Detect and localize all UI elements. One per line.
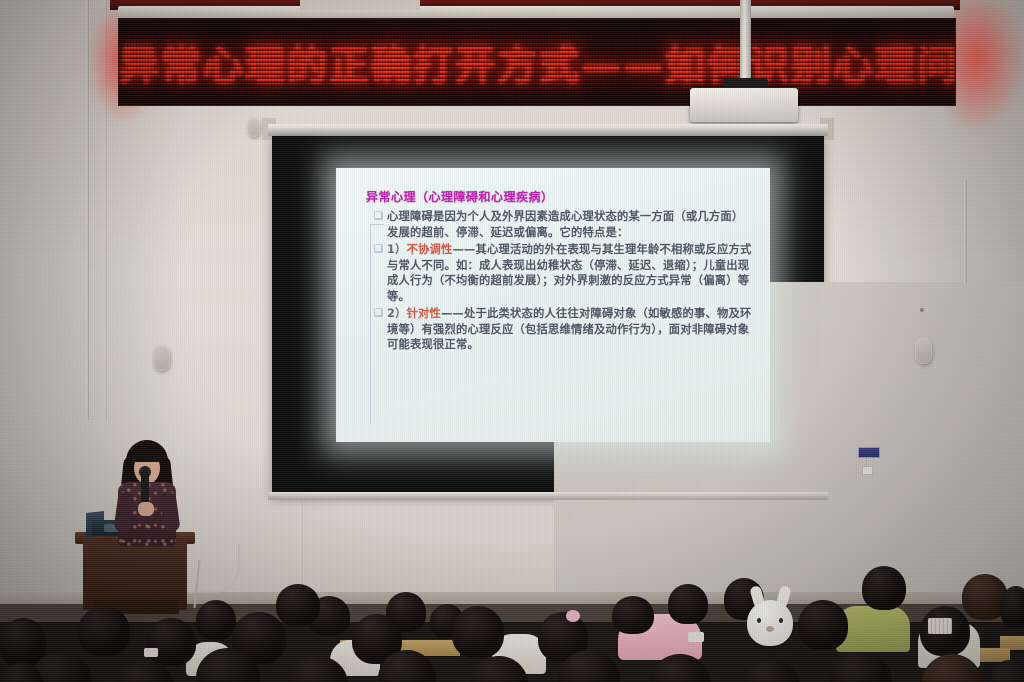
wall-speaker-icon [915,338,932,364]
wall-outlet-box [862,466,873,475]
plush-toy [747,600,793,646]
audience-head [612,596,654,634]
slide-bullet: ❑ 1）不协调性——其心理活动的外在表现与其生理年龄不相称或反应方式与常人不同。… [374,242,754,304]
audience-head [798,600,848,650]
slide-divider-tick [370,224,384,225]
audience-head [1000,586,1024,628]
banner-cap-segment [300,0,420,10]
hair-scrunchie [566,610,580,622]
bullet-body: ——处于此类状态的人往往对障碍对象（如敏感的事、物及环境等）有强烈的心理反应（包… [387,307,751,351]
bullet-keyword: 不协调性 [407,243,453,256]
wall-plaque [858,447,880,458]
bullet-marker-icon: ❑ [374,306,387,353]
presenter-fringe [132,448,162,462]
hair-clip [144,648,158,657]
audience-head [452,606,504,658]
wall-speaker-icon [247,117,260,137]
hair-clip [688,632,704,642]
audience-head [276,584,320,626]
led-scrolling-banner: 异常心理的正确打开方式——如何识别心理问题 [118,18,956,106]
slide-bullet-text: 2）针对性——处于此类状态的人往往对障碍对象（如敏感的事、物及环境等）有强烈的心… [387,306,754,353]
bullet-keyword: 针对性 [407,307,442,320]
audience-head [986,660,1024,682]
seated-audience [0,556,1024,682]
plush-toy-eye [757,618,761,623]
slide-bullet: ❑ 心理障碍是因为个人及外界因素造成心理状态的某一方面（或几方面）发展的超前、停… [374,209,754,240]
audience-head [196,600,236,640]
audience-head [78,606,130,656]
bullet-number: 1） [387,243,407,256]
led-banner-text: 异常心理的正确打开方式——如何识别心理问题 [119,33,955,91]
plush-toy-nose [766,626,774,632]
slide-bullet-text: 心理障碍是因为个人及外界因素造成心理状态的某一方面（或几方面）发展的超前、停滞、… [387,209,754,240]
presenter-hands [138,502,154,516]
presenter [110,440,184,540]
led-glow-right [950,0,1024,130]
wall-nail [920,308,924,312]
slide-bullet-text: 1）不协调性——其心理活动的外在表现与其生理年龄不相称或反应方式与常人不同。如：… [387,242,754,304]
bullet-number: 2） [387,307,407,320]
microphone-body [141,470,149,504]
hair-claw-clip [928,618,952,634]
ceiling-projector [690,88,798,122]
bullet-marker-icon: ❑ [374,242,387,304]
slide-bullet: ❑ 2）针对性——处于此类状态的人往往对障碍对象（如敏感的事、物及环境等）有强烈… [374,306,754,353]
plush-toy-eye [779,618,783,623]
screen-bottom-bar [268,492,828,500]
slide-divider [370,224,371,424]
audience-head [668,584,708,624]
audience-head [862,566,906,610]
projected-slide: 异常心理（心理障碍和心理疾病） ❑ 心理障碍是因为个人及外界因素造成心理状态的某… [336,168,770,442]
audience-head [742,660,800,682]
screen-roller-housing [268,124,828,136]
audience-head [146,618,196,666]
wall-speaker-icon [153,345,170,371]
lecture-hall-scene: 异常心理的正确打开方式——如何识别心理问题 异常心理（心理障碍和心理疾病） ❑ … [0,0,1024,682]
slide-title: 异常心理（心理障碍和心理疾病） [366,188,754,205]
audience-head [830,652,892,682]
